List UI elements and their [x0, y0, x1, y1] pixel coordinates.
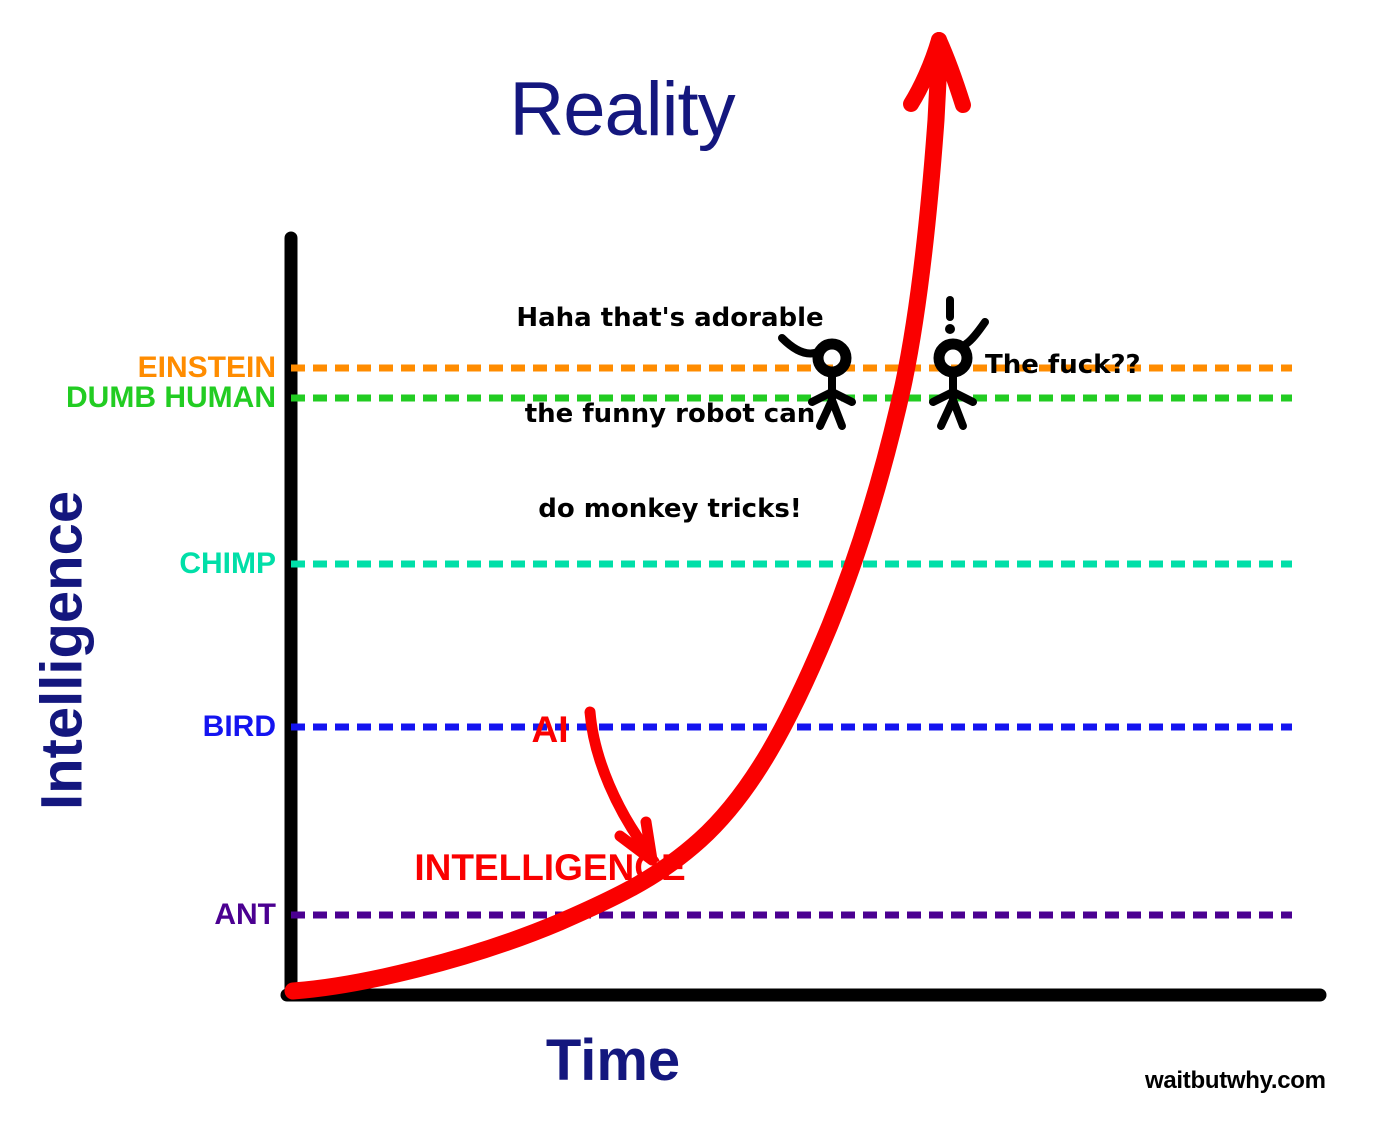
page-title-text: Reality: [509, 70, 734, 150]
speech-amused-line-2: the funny robot can: [500, 399, 840, 431]
page-title: Reality: [0, 70, 1376, 150]
threshold-label-chimp: CHIMP: [179, 547, 276, 581]
watermark: waitbutwhy.com: [1145, 1068, 1326, 1093]
ai-intelligence-callout: AI INTELLIGENCE: [400, 614, 700, 984]
observer-shocked-exclaim-dot: [945, 324, 955, 334]
observer-shocked-legs: [941, 400, 963, 426]
chart-canvas: Reality Intelligence Time EINSTEIN DUMB …: [0, 0, 1376, 1124]
threshold-label-einstein: EINSTEIN: [138, 351, 276, 385]
ai-callout-line-1: AI: [400, 707, 700, 753]
observer-shocked-speech-tail: [966, 322, 985, 344]
speech-amused-line-1: Haha that's adorable: [500, 303, 840, 335]
observer-shocked-head: [939, 344, 967, 372]
speech-bubble-shocked: The fuck??: [985, 287, 1141, 446]
ai-callout-line-2: INTELLIGENCE: [400, 845, 700, 891]
speech-shocked-line-1: The fuck??: [985, 350, 1141, 382]
threshold-label-ant: ANT: [214, 898, 276, 932]
x-axis-label-text: Time: [546, 1031, 680, 1092]
threshold-label-dumb-human: DUMB HUMAN: [66, 381, 276, 415]
observer-shocked-figure: [933, 300, 985, 426]
threshold-label-bird: BIRD: [203, 710, 276, 744]
y-axis-label: Intelligence: [33, 435, 94, 865]
speech-amused-line-3: do monkey tricks!: [500, 494, 840, 526]
speech-bubble-amused: Haha that's adorable the funny robot can…: [500, 240, 840, 589]
